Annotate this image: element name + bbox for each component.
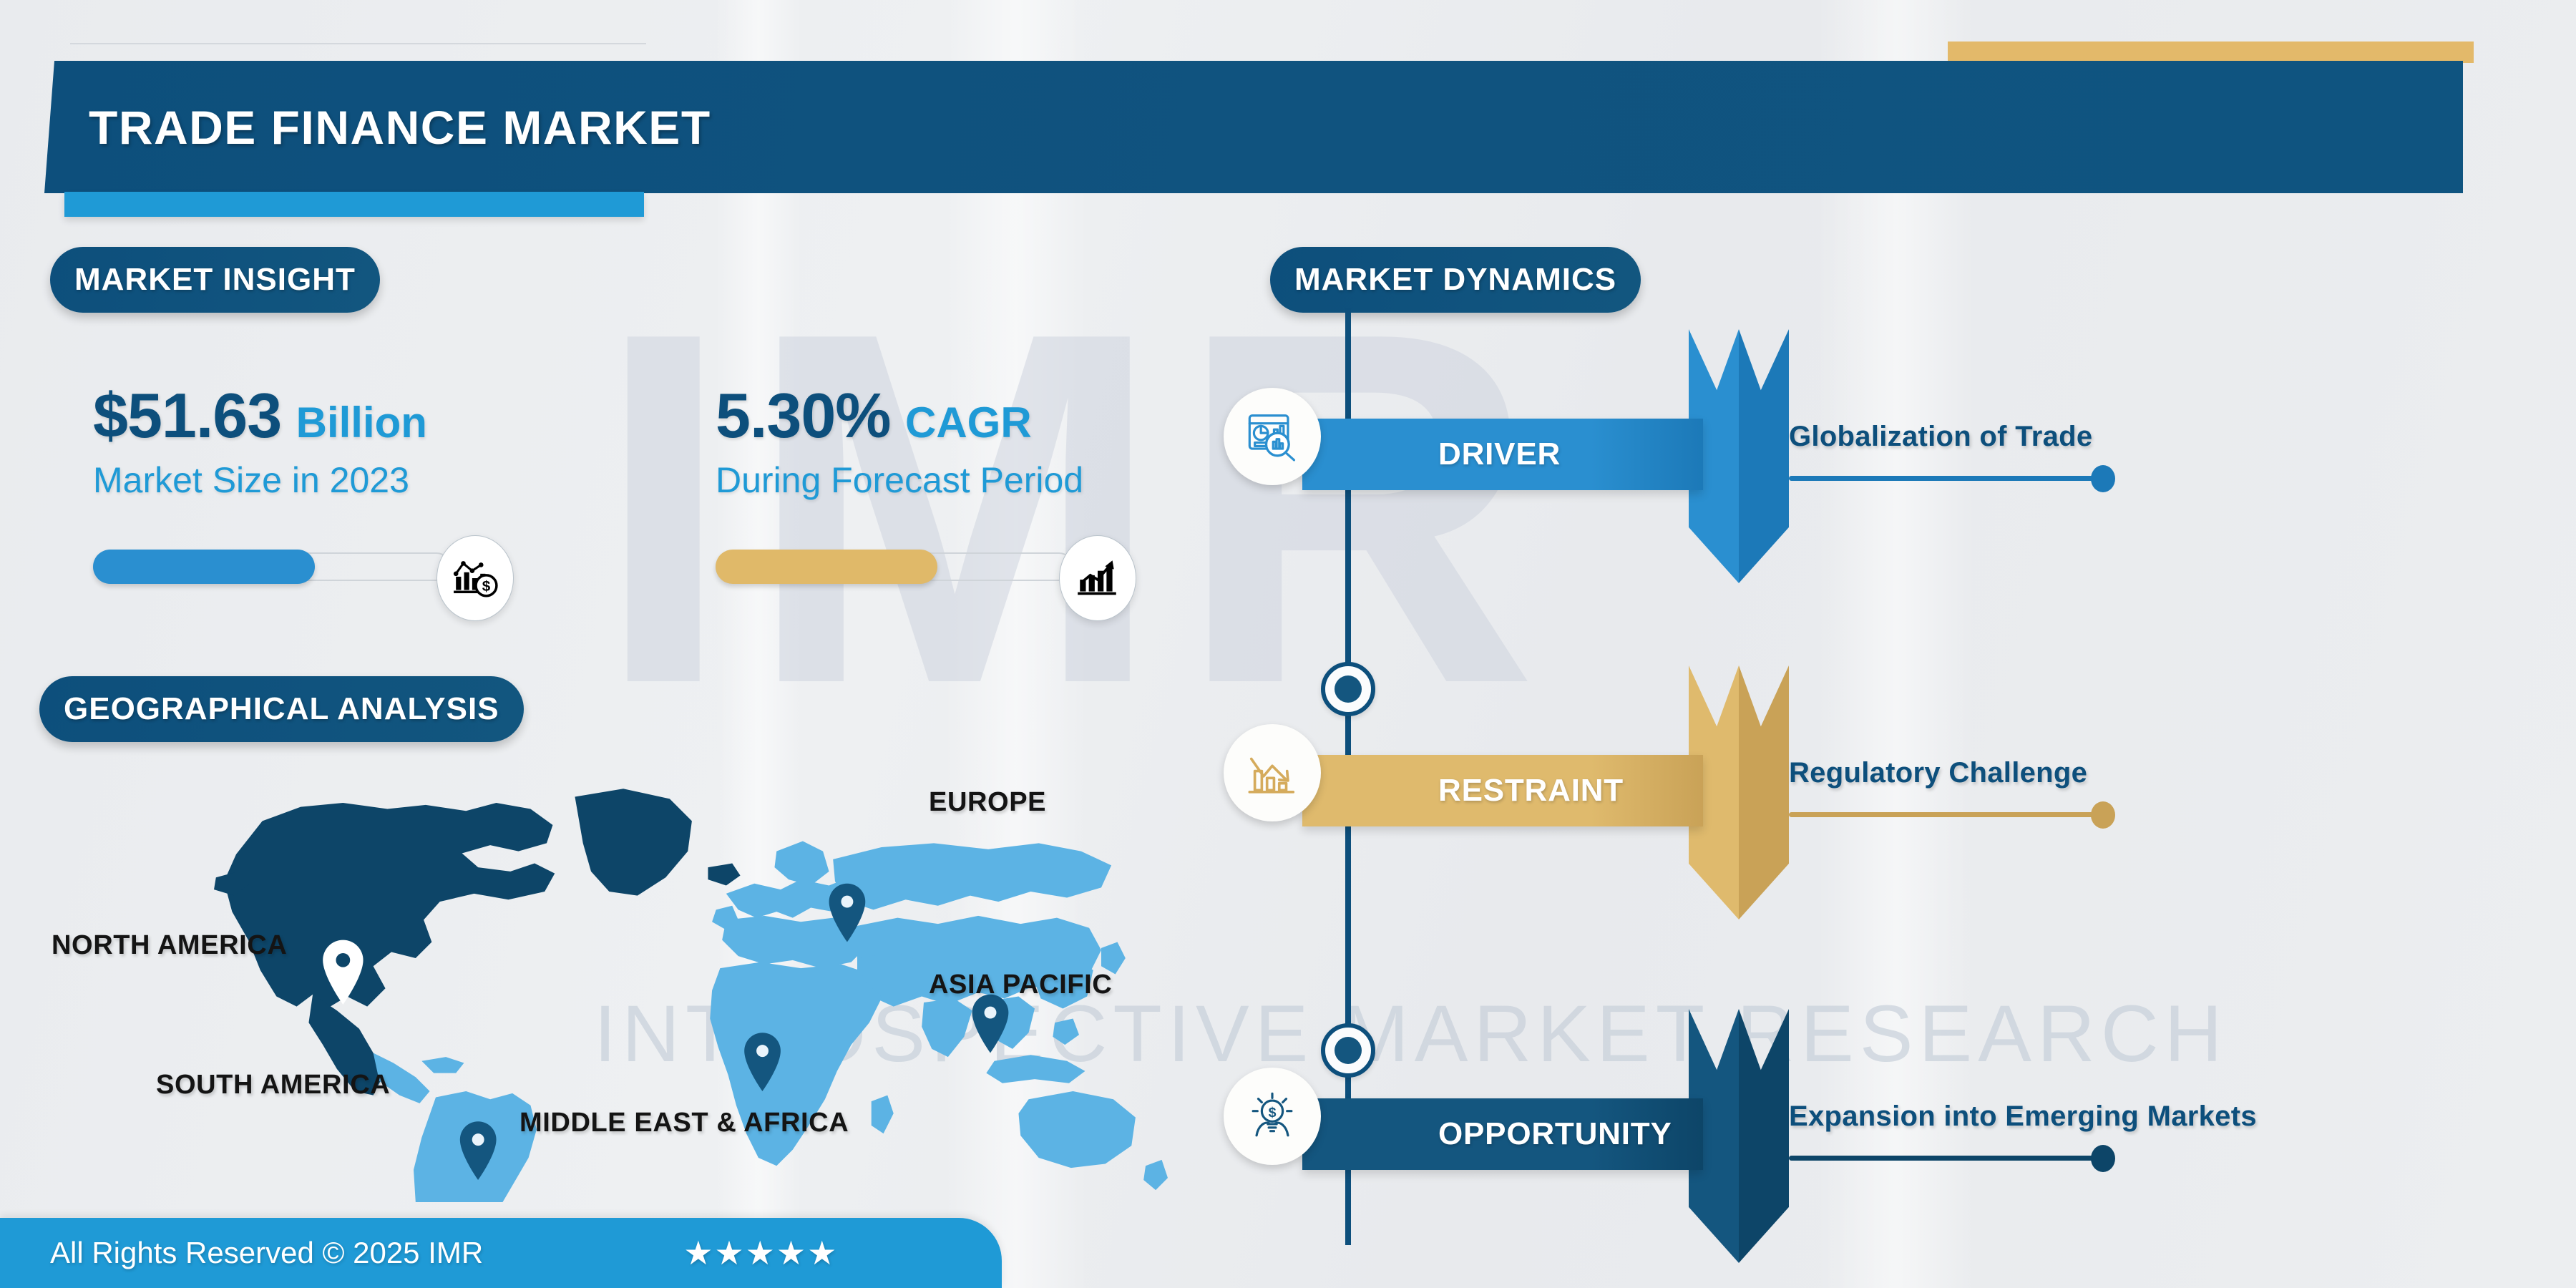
kpi-headline: 5.30% CAGR bbox=[716, 379, 1138, 452]
dashboard-magnifier-icon bbox=[1224, 388, 1321, 485]
dynamics-bar-restraint[interactable]: RESTRAINT bbox=[1302, 755, 1703, 826]
infographic-canvas: IMR INTROSPECTIVE MARKET RESEARCH TRADE … bbox=[0, 0, 2576, 1288]
kpi-progress: $ bbox=[93, 531, 515, 602]
rating-stars: ★★★★★ bbox=[683, 1234, 838, 1272]
section-heading-market-insight: MARKET INSIGHT bbox=[50, 247, 380, 313]
region-europe-scandinavia bbox=[774, 841, 829, 886]
map-label-north-america: NORTH AMERICA bbox=[52, 930, 287, 961]
kpi-progress bbox=[716, 531, 1138, 602]
region-new-zealand bbox=[1143, 1160, 1168, 1190]
region-iceland bbox=[708, 864, 740, 886]
region-madagascar bbox=[872, 1096, 894, 1134]
dynamics-detail-opportunity: Expansion into Emerging Markets bbox=[1789, 1101, 2257, 1133]
map-label-middle-east-africa: MIDDLE EAST & AFRICA bbox=[519, 1108, 849, 1138]
map-label-south-america: SOUTH AMERICA bbox=[156, 1070, 390, 1101]
timeline-node-dot bbox=[1321, 1023, 1375, 1078]
section-heading-label: MARKET INSIGHT bbox=[74, 262, 356, 298]
title-accent-bar bbox=[64, 192, 644, 217]
dynamics-row-driver: DRIVER Globalization of Trade bbox=[1216, 401, 2576, 508]
lightbulb-dollar-icon: $ bbox=[1224, 1068, 1321, 1165]
ribbon-banner bbox=[1689, 665, 1789, 919]
kpi-unit: Billion bbox=[296, 398, 427, 447]
dynamics-bar-driver[interactable]: DRIVER bbox=[1302, 419, 1703, 490]
section-heading-label: MARKET DYNAMICS bbox=[1294, 262, 1616, 298]
page-title-bar: TRADE FINANCE MARKET bbox=[44, 61, 2463, 193]
dynamics-row-opportunity: OPPORTUNITY $ bbox=[1216, 1080, 2576, 1188]
ribbon-banner bbox=[1689, 1009, 1789, 1263]
connector-dot bbox=[2091, 465, 2115, 492]
map-label-europe: EUROPE bbox=[929, 787, 1046, 818]
kpi-value: $51.63 bbox=[93, 379, 281, 452]
connector-line bbox=[1789, 812, 2097, 817]
header-gold-accent bbox=[1948, 42, 2474, 63]
region-philippines bbox=[1053, 1019, 1079, 1045]
kpi-cagr: 5.30% CAGR During Forecast Period bbox=[716, 379, 1138, 602]
region-caribbean bbox=[421, 1057, 464, 1073]
connector-dot bbox=[2091, 801, 2115, 829]
map-label-asia-pacific: ASIA PACIFIC bbox=[929, 970, 1112, 1000]
kpi-sublabel: During Forecast Period bbox=[716, 459, 1138, 501]
dynamics-detail-restraint: Regulatory Challenge bbox=[1789, 757, 2087, 789]
svg-text:$: $ bbox=[1269, 1105, 1277, 1121]
dynamics-label: OPPORTUNITY bbox=[1438, 1116, 1672, 1152]
bar-chart-dollar-icon: $ bbox=[436, 535, 514, 621]
footer-bar: All Rights Reserved © 2025 IMR ★★★★★ bbox=[0, 1218, 1002, 1288]
map-pin-asia-pacific bbox=[972, 995, 1009, 1053]
region-north-america bbox=[224, 803, 555, 1008]
progress-fill bbox=[716, 550, 937, 584]
region-australia bbox=[1018, 1091, 1135, 1168]
section-heading-market-dynamics: MARKET DYNAMICS bbox=[1270, 247, 1641, 313]
kpi-value: 5.30% bbox=[716, 379, 891, 452]
region-india bbox=[922, 998, 972, 1057]
region-indonesia bbox=[986, 1055, 1085, 1083]
header-hairline bbox=[70, 43, 646, 44]
timeline-node-dot bbox=[1321, 662, 1375, 716]
dynamics-label: DRIVER bbox=[1438, 436, 1561, 472]
region-greenland bbox=[575, 789, 691, 895]
svg-text:$: $ bbox=[482, 578, 491, 595]
kpi-headline: $51.63 Billion bbox=[93, 379, 515, 452]
connector-line bbox=[1789, 476, 2097, 481]
connector-line bbox=[1789, 1156, 2097, 1161]
kpi-market-size: $51.63 Billion Market Size in 2023 $ bbox=[93, 379, 515, 602]
dynamics-row-restraint: RESTRAINT Regulatory Challenge bbox=[1216, 737, 2576, 844]
dynamics-label: RESTRAINT bbox=[1438, 773, 1624, 809]
copyright-text: All Rights Reserved © 2025 IMR bbox=[50, 1236, 483, 1270]
ribbon-banner bbox=[1689, 329, 1789, 583]
section-heading-label: GEOGRAPHICAL ANALYSIS bbox=[64, 691, 499, 727]
dynamics-bar-opportunity[interactable]: OPPORTUNITY bbox=[1302, 1098, 1703, 1170]
page-title: TRADE FINANCE MARKET bbox=[89, 100, 711, 155]
kpi-sublabel: Market Size in 2023 bbox=[93, 459, 515, 501]
kpi-unit: CAGR bbox=[905, 398, 1032, 447]
dynamics-detail-driver: Globalization of Trade bbox=[1789, 421, 2092, 453]
region-russia bbox=[833, 843, 1111, 909]
growth-arrow-chart-icon bbox=[1059, 535, 1136, 621]
connector-dot bbox=[2091, 1145, 2115, 1172]
market-dynamics-panel: DRIVER Globalization of Trade bbox=[1216, 308, 2576, 1288]
section-heading-geographical-analysis: GEOGRAPHICAL ANALYSIS bbox=[39, 676, 524, 742]
declining-bar-chart-icon bbox=[1224, 724, 1321, 821]
progress-fill bbox=[93, 550, 315, 584]
